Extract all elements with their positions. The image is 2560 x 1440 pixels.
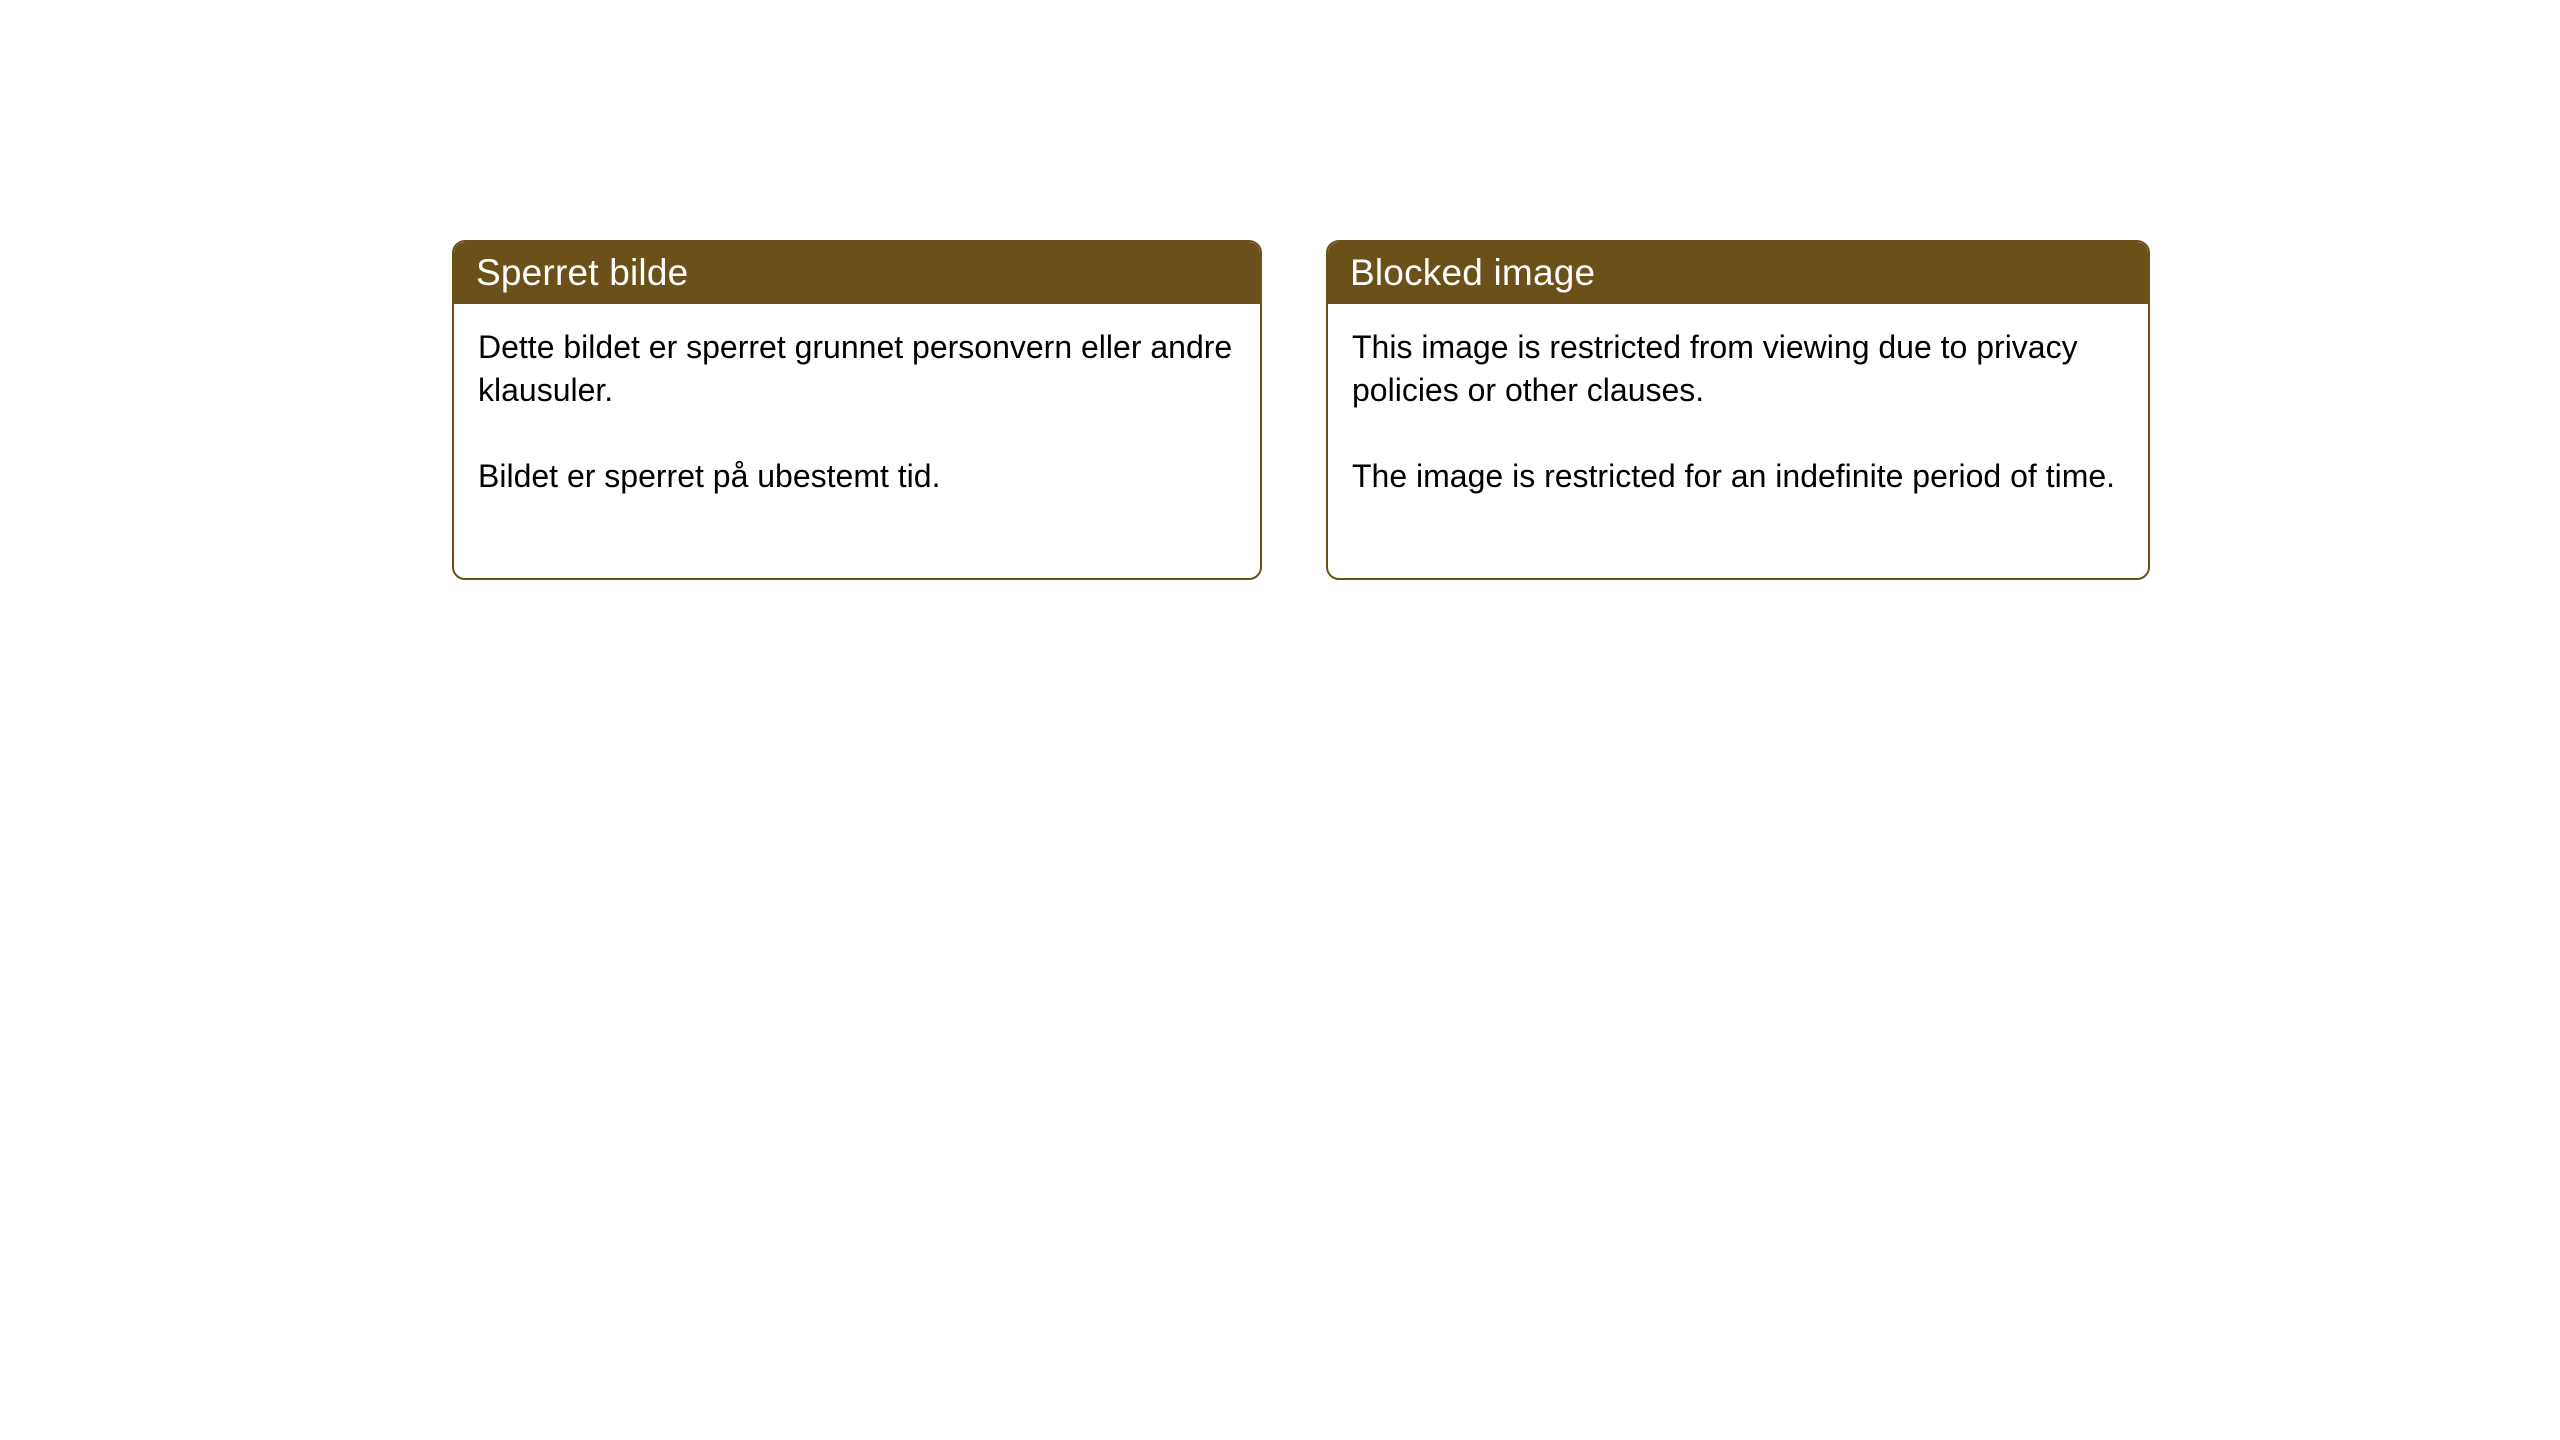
card-body-english: This image is restricted from viewing du… — [1328, 304, 2148, 578]
card-header-english: Blocked image — [1328, 242, 2148, 304]
card-body-norwegian: Dette bildet er sperret grunnet personve… — [454, 304, 1260, 578]
card-paragraph-privacy-norwegian: Dette bildet er sperret grunnet personve… — [478, 326, 1236, 412]
card-paragraph-duration-norwegian: Bildet er sperret på ubestemt tid. — [478, 455, 1236, 498]
blocked-image-notice-card-norwegian: Sperret bilde Dette bildet er sperret gr… — [452, 240, 1262, 580]
card-header-norwegian: Sperret bilde — [454, 242, 1260, 304]
page-root: Sperret bilde Dette bildet er sperret gr… — [0, 0, 2560, 1440]
card-title-english: Blocked image — [1350, 251, 1595, 295]
notice-cards-container: Sperret bilde Dette bildet er sperret gr… — [452, 240, 2150, 580]
card-paragraph-duration-english: The image is restricted for an indefinit… — [1352, 455, 2124, 498]
card-paragraph-privacy-english: This image is restricted from viewing du… — [1352, 326, 2124, 412]
card-title-norwegian: Sperret bilde — [476, 251, 688, 295]
blocked-image-notice-card-english: Blocked image This image is restricted f… — [1326, 240, 2150, 580]
